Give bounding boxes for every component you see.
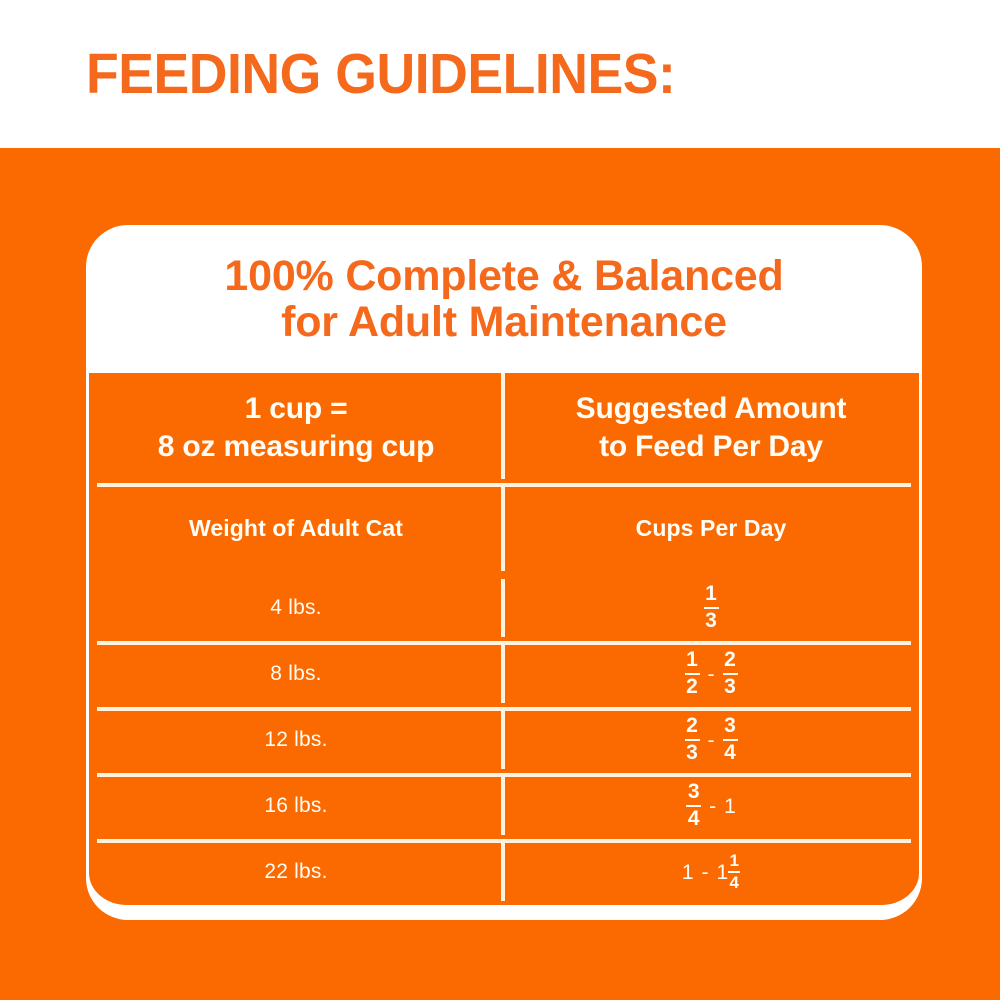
fraction-numerator: 3 [723, 715, 737, 738]
column-header-weight: Weight of Adult Cat [89, 483, 503, 575]
page-title: FEEDING GUIDELINES: [86, 46, 675, 103]
mixed-whole-part: 1 [717, 862, 729, 883]
cell-weight: 8 lbs. [89, 641, 503, 707]
table-main-header-row: 1 cup = 8 oz measuring cup Suggested Amo… [89, 373, 919, 483]
fraction-numerator: 1 [704, 583, 718, 606]
card-heading: 100% Complete & Balanced for Adult Maint… [86, 225, 922, 373]
whole-number: 1 [682, 862, 694, 883]
fraction-denominator: 4 [728, 874, 739, 892]
column-header-weight-label: Weight of Adult Cat [189, 515, 403, 542]
cell-suggested-amount: Suggested Amount to Feed Per Day [503, 373, 919, 483]
cup-definition-line-2: 8 oz measuring cup [158, 428, 434, 466]
card-heading-line-2: for Adult Maintenance [281, 299, 727, 345]
range-dash: - [701, 862, 710, 883]
range-dash: - [707, 664, 716, 685]
table-row: 4 lbs.13 [89, 575, 919, 641]
fraction: 23 [723, 649, 738, 698]
weight-value: 4 lbs. [270, 596, 321, 620]
table-body: 4 lbs.138 lbs.12-2312 lbs.23-3416 lbs.34… [89, 575, 919, 905]
cell-cups-per-day: 13 [503, 575, 919, 641]
fraction: 34 [723, 715, 738, 764]
cup-definition-line-1: 1 cup = [158, 390, 434, 428]
fraction-numerator: 3 [687, 781, 701, 804]
amount-value: 12-23 [685, 649, 738, 698]
cell-cups-per-day: 23-34 [503, 707, 919, 773]
amount-value: 34-1 [686, 781, 736, 830]
cell-weight: 22 lbs. [89, 839, 503, 905]
weight-value: 22 lbs. [264, 860, 327, 884]
fraction: 14 [728, 852, 740, 893]
amount-value: 1-114 [682, 852, 740, 893]
column-header-cups-label: Cups Per Day [636, 515, 787, 542]
cell-cups-per-day: 34-1 [503, 773, 919, 839]
card-heading-line-1: 100% Complete & Balanced [224, 253, 783, 299]
table-row: 16 lbs.34-1 [89, 773, 919, 839]
table-row: 8 lbs.12-23 [89, 641, 919, 707]
fraction-denominator: 2 [685, 676, 699, 699]
fraction: 13 [704, 583, 719, 632]
weight-value: 16 lbs. [264, 794, 327, 818]
suggested-amount-line-1: Suggested Amount [576, 390, 847, 428]
cell-weight: 16 lbs. [89, 773, 503, 839]
weight-value: 8 lbs. [270, 662, 321, 686]
cell-cups-per-day: 1-114 [503, 839, 919, 905]
fraction-denominator: 4 [687, 808, 701, 831]
title-band: FEEDING GUIDELINES: [0, 0, 1000, 148]
fraction-numerator: 2 [685, 715, 699, 738]
fraction-numerator: 1 [685, 649, 699, 672]
fraction-denominator: 4 [723, 742, 737, 765]
feeding-table: 1 cup = 8 oz measuring cup Suggested Amo… [87, 373, 921, 913]
fraction: 34 [686, 781, 701, 830]
weight-value: 12 lbs. [264, 728, 327, 752]
table-row: 12 lbs.23-34 [89, 707, 919, 773]
amount-value: 13 [704, 583, 719, 632]
feeding-table-card: 100% Complete & Balanced for Adult Maint… [86, 225, 922, 920]
fraction-denominator: 3 [685, 742, 699, 765]
cell-weight: 4 lbs. [89, 575, 503, 641]
cell-cup-definition: 1 cup = 8 oz measuring cup [89, 373, 503, 483]
column-header-cups: Cups Per Day [503, 483, 919, 575]
range-dash: - [707, 730, 716, 751]
range-dash: - [708, 796, 717, 817]
cell-cups-per-day: 12-23 [503, 641, 919, 707]
suggested-amount-line-2: to Feed Per Day [576, 428, 847, 466]
fraction: 12 [685, 649, 700, 698]
amount-value: 23-34 [685, 715, 738, 764]
fraction-numerator: 2 [723, 649, 737, 672]
feeding-guidelines-page: FEEDING GUIDELINES: 100% Complete & Bala… [0, 0, 1000, 1000]
fraction: 23 [685, 715, 700, 764]
fraction-denominator: 3 [723, 676, 737, 699]
fraction-denominator: 3 [704, 610, 718, 633]
whole-number: 1 [724, 796, 736, 817]
cell-weight: 12 lbs. [89, 707, 503, 773]
mixed-number: 114 [717, 852, 741, 893]
table-row: 22 lbs.1-114 [89, 839, 919, 905]
table-column-header-row: Weight of Adult Cat Cups Per Day [89, 483, 919, 575]
fraction-numerator: 1 [728, 852, 739, 870]
